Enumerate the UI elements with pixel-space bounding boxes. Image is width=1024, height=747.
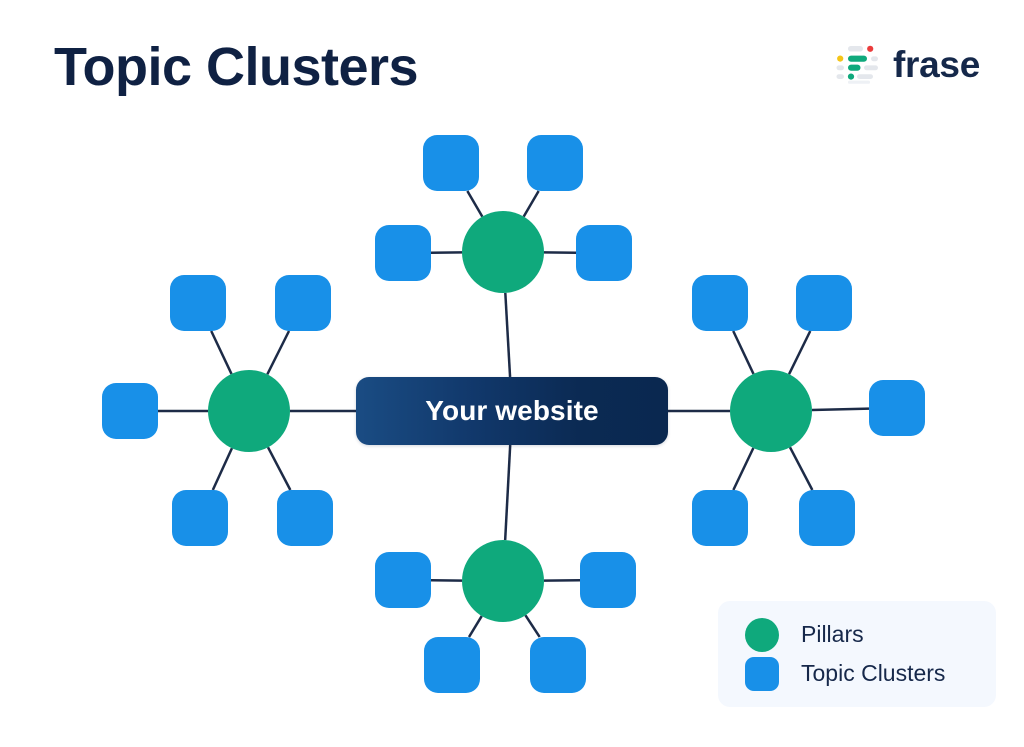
right-pillar-cluster-1[interactable] xyxy=(692,275,748,331)
left-pillar-cluster-1[interactable] xyxy=(170,275,226,331)
top-pillar-cluster-4[interactable] xyxy=(576,225,632,281)
link-left-pillar-to-left-pillar-cluster-2 xyxy=(267,331,289,374)
link-right-pillar-to-right-pillar-cluster-2 xyxy=(789,331,810,374)
legend-item-pillars: Pillars xyxy=(718,615,996,654)
link-center-to-top-pillar xyxy=(505,293,510,377)
link-bottom-pillar-to-bottom-pillar-cluster-3 xyxy=(469,616,482,637)
legend: Pillars Topic Clusters xyxy=(718,601,996,707)
link-right-pillar-to-right-pillar-cluster-4 xyxy=(733,448,753,490)
left-pillar-cluster-3[interactable] xyxy=(102,383,158,439)
right-pillar-cluster-3[interactable] xyxy=(869,380,925,436)
link-top-pillar-to-top-pillar-cluster-1 xyxy=(467,191,482,217)
legend-label-topic-clusters: Topic Clusters xyxy=(801,660,945,687)
top-pillar-cluster-2[interactable] xyxy=(527,135,583,191)
center-node-your-website[interactable]: Your website xyxy=(356,377,668,445)
right-pillar-cluster-5[interactable] xyxy=(799,490,855,546)
left-pillar-cluster-4[interactable] xyxy=(172,490,228,546)
link-top-pillar-to-top-pillar-cluster-2 xyxy=(524,191,539,217)
link-left-pillar-to-left-pillar-cluster-4 xyxy=(213,448,232,490)
bottom-pillar-cluster-3[interactable] xyxy=(424,637,480,693)
bottom-pillar-cluster-2[interactable] xyxy=(580,552,636,608)
bottom-pillar[interactable] xyxy=(462,540,544,622)
top-pillar-cluster-1[interactable] xyxy=(423,135,479,191)
top-pillar-cluster-3[interactable] xyxy=(375,225,431,281)
right-pillar[interactable] xyxy=(730,370,812,452)
legend-item-topic-clusters: Topic Clusters xyxy=(718,654,996,693)
left-pillar[interactable] xyxy=(208,370,290,452)
right-pillar-cluster-4[interactable] xyxy=(692,490,748,546)
link-right-pillar-to-right-pillar-cluster-3 xyxy=(812,409,869,410)
link-right-pillar-to-right-pillar-cluster-1 xyxy=(733,331,753,374)
left-pillar-cluster-2[interactable] xyxy=(275,275,331,331)
link-left-pillar-to-left-pillar-cluster-5 xyxy=(268,447,290,490)
topic-clusters-infographic: Topic Clusters frase Your website xyxy=(0,0,1024,747)
right-pillar-cluster-2[interactable] xyxy=(796,275,852,331)
link-left-pillar-to-left-pillar-cluster-1 xyxy=(211,331,231,374)
link-right-pillar-to-right-pillar-cluster-5 xyxy=(790,447,812,490)
center-node-label: Your website xyxy=(425,395,598,427)
top-pillar[interactable] xyxy=(462,211,544,293)
bottom-pillar-cluster-4[interactable] xyxy=(530,637,586,693)
legend-swatch-pillars-icon xyxy=(745,618,779,652)
link-bottom-pillar-to-bottom-pillar-cluster-4 xyxy=(525,615,539,637)
link-center-to-bottom-pillar xyxy=(505,445,510,540)
legend-swatch-topic-clusters-icon xyxy=(745,657,779,691)
legend-label-pillars: Pillars xyxy=(801,621,864,648)
bottom-pillar-cluster-1[interactable] xyxy=(375,552,431,608)
left-pillar-cluster-5[interactable] xyxy=(277,490,333,546)
